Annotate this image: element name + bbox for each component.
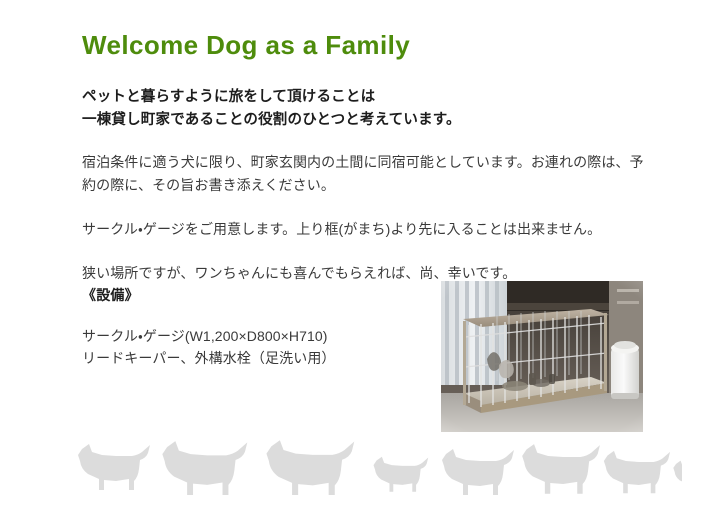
dog-silhouette-strip bbox=[72, 440, 682, 495]
lead-paragraph: ペットと暮らすように旅をして頂けることは 一棟貸し町家であることの役割のひとつと… bbox=[82, 86, 654, 133]
lead-line-1: ペットと暮らすように旅をして頂けることは bbox=[82, 89, 375, 105]
facilities-list: サークル・ゲージ(W1,200×D800×H710) リードキーパー、外構水栓（… bbox=[82, 325, 432, 370]
facilities-section: 《設備》 サークル・ゲージ(W1,200×D800×H710) リードキーパー、… bbox=[82, 285, 432, 370]
facilities-item: リードキーパー、外構水栓（足洗い用） bbox=[82, 347, 432, 369]
facilities-heading: 《設備》 bbox=[82, 285, 432, 305]
dog-silhouette-group bbox=[78, 440, 682, 495]
lead-line-2: 一棟貸し町家であることの役割のひとつと考えています。 bbox=[82, 112, 461, 128]
dog-silhouettes-icon bbox=[72, 440, 682, 495]
dog-crate-photo-image bbox=[441, 281, 643, 432]
dog-crate-photo bbox=[441, 281, 643, 432]
page-title: Welcome Dog as a Family bbox=[82, 30, 410, 61]
body-paragraph-2: サークル・ゲージをご用意します。上り框(がまち)より先に入ることは出来ません。 bbox=[82, 218, 654, 242]
intro-content: ペットと暮らすように旅をして頂けることは 一棟貸し町家であることの役割のひとつと… bbox=[82, 86, 654, 285]
body-paragraph-1: 宿泊条件に適う犬に限り、町家玄関内の土間に同宿可能としています。お連れの際は、予… bbox=[82, 151, 654, 198]
page-root: Welcome Dog as a Family ペットと暮らすように旅をして頂け… bbox=[0, 0, 720, 507]
facilities-item: サークル・ゲージ(W1,200×D800×H710) bbox=[82, 325, 432, 347]
